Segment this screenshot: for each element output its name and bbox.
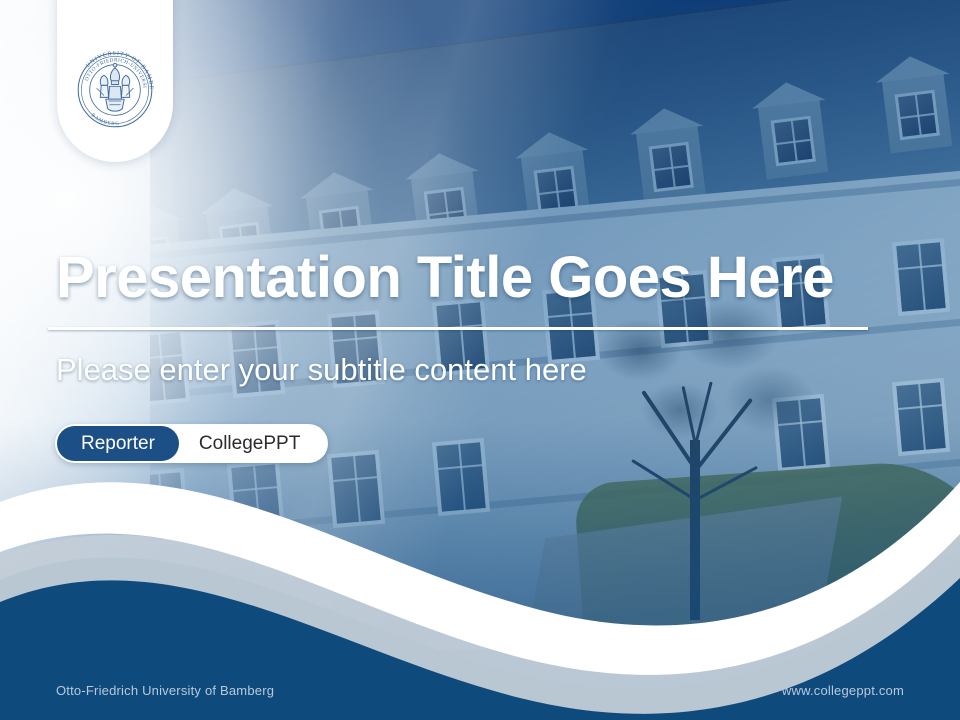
reporter-name: CollegePPT [179,426,326,461]
university-seal-icon: UNIVERSITY OF BAMBERG OTTO-FRIEDRICH-UNI… [69,44,161,136]
university-logo-badge: UNIVERSITY OF BAMBERG OTTO-FRIEDRICH-UNI… [57,0,173,162]
title-divider [48,327,868,330]
reporter-role-label: Reporter [57,426,179,461]
page-subtitle: Please enter your subtitle content here [56,352,587,388]
reporter-pill[interactable]: Reporter CollegePPT [55,424,328,463]
svg-text:BAMBERG: BAMBERG [90,112,120,127]
page-title: Presentation Title Goes Here [56,248,916,309]
presentation-title-slide: UNIVERSITY OF BAMBERG OTTO-FRIEDRICH-UNI… [0,0,960,720]
footer-website[interactable]: www.collegeppt.com [782,683,904,698]
footer-institution: Otto-Friedrich University of Bamberg [56,683,274,698]
bottom-wave-decoration [0,460,960,720]
